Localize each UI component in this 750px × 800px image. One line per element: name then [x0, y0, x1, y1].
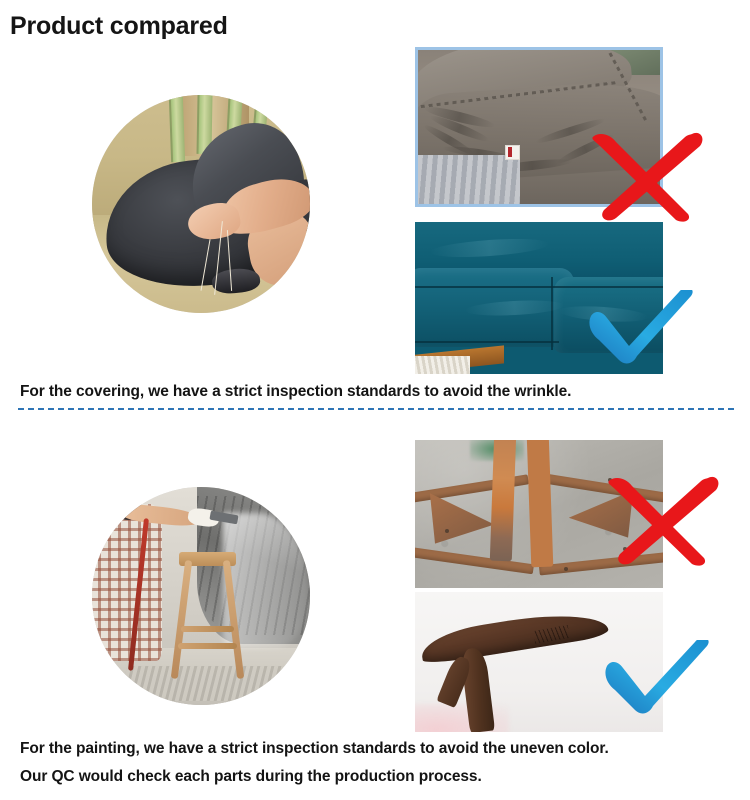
screw-hole: [445, 529, 449, 533]
comparison-photo-even-paint: [415, 592, 663, 732]
table-leg-uneven: [490, 440, 517, 562]
screw-hole: [623, 547, 627, 551]
cushion-seam: [415, 286, 663, 288]
process-photo-painting: [92, 487, 310, 705]
foam-panel: [169, 97, 185, 163]
wooden-bar-stool: [170, 552, 244, 678]
caption-painting: For the painting, we have a strict inspe…: [20, 740, 609, 758]
caption-covering: For the covering, we have a strict inspe…: [20, 383, 571, 401]
page-title: Product compared: [10, 12, 228, 41]
comparison-photo-wrinkled-sofa: [415, 47, 663, 207]
cushion-seam: [551, 277, 553, 350]
stool-rail: [181, 626, 234, 632]
comparison-photo-uneven-paint: [415, 440, 663, 588]
stool-leg: [223, 560, 244, 679]
comparison-photo-smooth-sofa: [415, 222, 663, 374]
pink-reflection: [415, 704, 509, 732]
stool-leg: [171, 560, 192, 679]
brand-label-tag: [505, 145, 520, 160]
section-divider: [18, 408, 734, 410]
cushion-seam: [415, 341, 559, 343]
process-photo-covering: [92, 95, 310, 313]
stool-rail: [178, 643, 237, 649]
caption-qc: Our QC would check each parts during the…: [20, 768, 482, 786]
white-rug: [415, 356, 470, 374]
radiator-background: [418, 155, 520, 204]
worker-plaid-shirt: [92, 504, 162, 661]
